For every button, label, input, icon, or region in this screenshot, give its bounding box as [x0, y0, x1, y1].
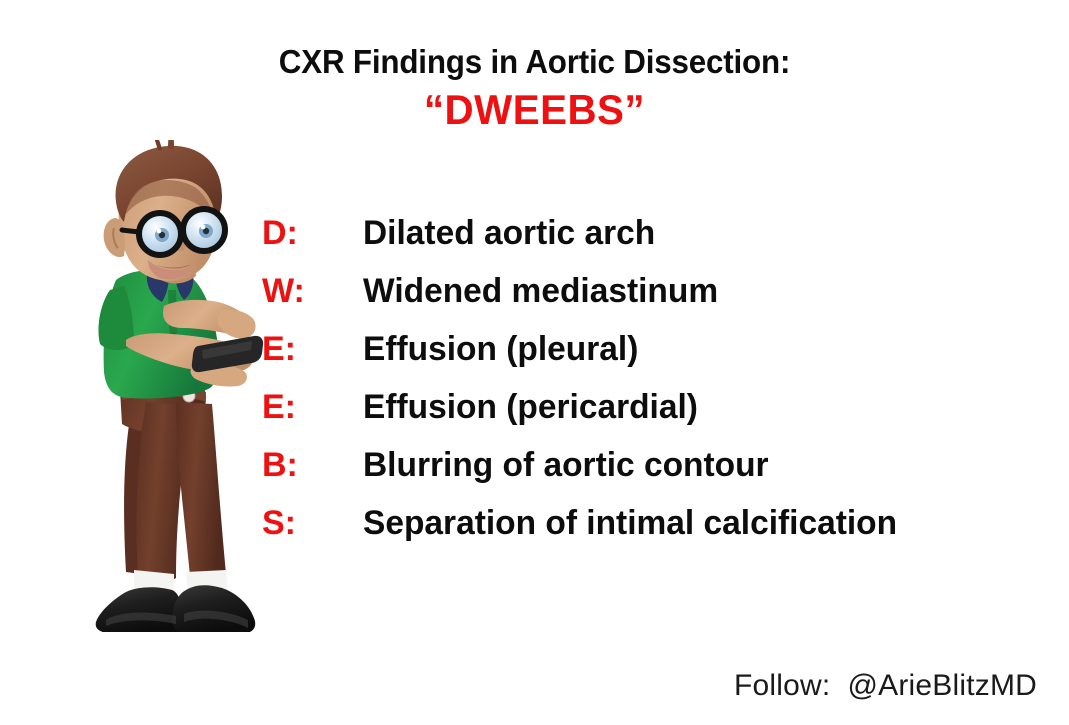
character-shoes — [96, 585, 256, 632]
mnemonic-letter: S: — [262, 506, 363, 540]
mnemonic-text: Effusion (pleural) — [363, 332, 1042, 366]
mnemonic-text: Effusion (pericardial) — [363, 390, 1042, 424]
page-title: CXR Findings in Aortic Dissection: — [27, 44, 1043, 81]
title-block: CXR Findings in Aortic Dissection: “DWEE… — [0, 44, 1069, 133]
mnemonic-letter: D: — [262, 216, 363, 250]
mnemonic-letter: B: — [262, 448, 363, 482]
mnemonic-letter: E: — [262, 390, 363, 424]
list-item: S: Separation of intimal calcification — [262, 506, 1052, 564]
acronym-title: “DWEEBS” — [21, 87, 1047, 133]
cartoon-character-illustration — [72, 140, 272, 632]
mnemonic-letter: W: — [262, 274, 363, 308]
slide-canvas: CXR Findings in Aortic Dissection: “DWEE… — [0, 0, 1069, 725]
mnemonic-letter: E: — [262, 332, 363, 366]
list-item: E: Effusion (pericardial) — [262, 390, 1052, 448]
list-item: W: Widened mediastinum — [262, 274, 1052, 332]
mnemonic-text: Blurring of aortic contour — [363, 448, 1042, 482]
mnemonic-text: Widened mediastinum — [363, 274, 1042, 308]
mnemonic-text: Separation of intimal calcification — [363, 506, 1042, 540]
character-legs — [120, 372, 226, 583]
mnemonic-list: D: Dilated aortic arch W: Widened medias… — [262, 216, 1052, 564]
mnemonic-text: Dilated aortic arch — [363, 216, 1042, 250]
social-handle-footer: Follow: @ArieBlitzMD — [734, 669, 1037, 703]
list-item: B: Blurring of aortic contour — [262, 448, 1052, 506]
list-item: D: Dilated aortic arch — [262, 216, 1052, 274]
list-item: E: Effusion (pleural) — [262, 332, 1052, 390]
